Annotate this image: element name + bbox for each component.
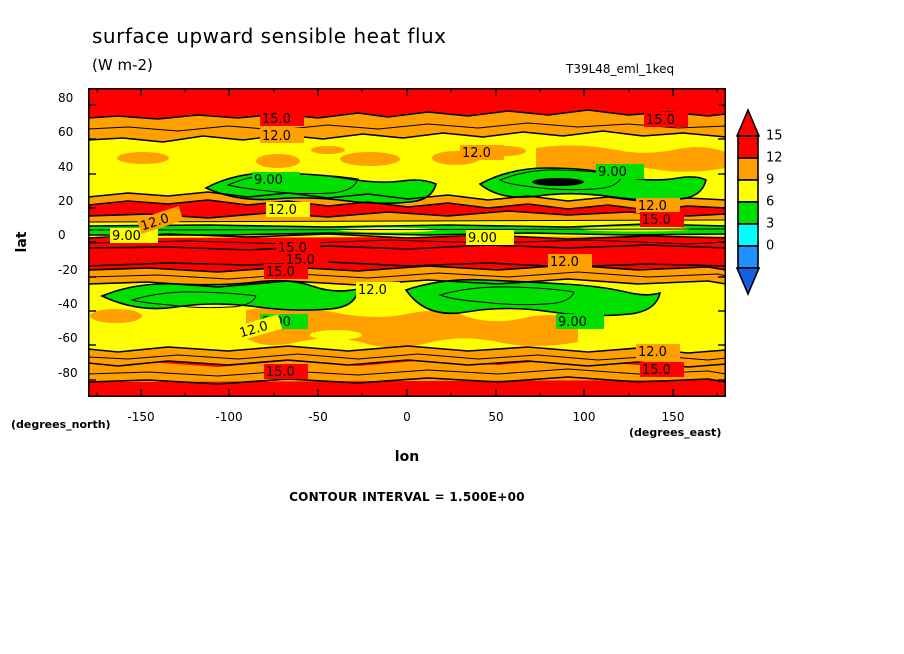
contour-label-12-n4: 12.0: [636, 198, 680, 214]
svg-text:9.00: 9.00: [468, 231, 497, 246]
contour-plot: 15.0 12.0 15.0 12.0 9.00 9.00 12.0 12.0 …: [88, 88, 726, 397]
colorbar: [735, 106, 767, 298]
colorbar-cap-top: [737, 110, 759, 136]
colorbar-tick-label: 15: [766, 129, 783, 144]
svg-text:12.0: 12.0: [462, 146, 491, 161]
contour-label-9-n2: 9.00: [596, 164, 644, 180]
svg-text:9.00: 9.00: [558, 315, 587, 330]
orange-island-s1: [90, 309, 142, 323]
yellow-hole-s1: [310, 330, 362, 340]
colorbar-seg-9to12: [738, 180, 758, 202]
colorbar-seg-gt15: [738, 136, 758, 158]
contour-label-12-n1: 12.0: [260, 128, 304, 144]
contour-label-12-s1: 12.0: [548, 254, 592, 270]
degrees-north-note: (degrees_north): [11, 418, 111, 431]
svg-text:12.0: 12.0: [358, 283, 387, 298]
contour-label-9-n1: 9.00: [252, 172, 300, 188]
colorbar-tick-label: 12: [766, 151, 783, 166]
contour-bands: 15.0 12.0 15.0 12.0 9.00 9.00 12.0 12.0 …: [88, 88, 726, 397]
svg-text:9.00: 9.00: [254, 173, 283, 188]
svg-text:12.0: 12.0: [638, 345, 667, 360]
contour-label-12-s2: 12.0: [356, 282, 400, 298]
x-tick-label: 0: [403, 410, 411, 424]
x-tick-label: -100: [215, 410, 242, 424]
units-subtitle: (W m-2): [92, 56, 153, 74]
orange-island-n2: [256, 154, 300, 168]
svg-text:9.00: 9.00: [112, 229, 141, 244]
contour-core-north: [532, 178, 584, 186]
svg-text:12.0: 12.0: [550, 255, 579, 270]
colorbar-tick-label: 6: [766, 195, 774, 210]
svg-text:12.0: 12.0: [638, 199, 667, 214]
orange-island-n8: [660, 153, 720, 167]
svg-text:12.0: 12.0: [268, 203, 297, 218]
svg-text:15.0: 15.0: [642, 213, 671, 228]
contour-label-9-s2: 9.00: [556, 314, 604, 330]
run-id-label: T39L48_eml_1keq: [566, 62, 674, 76]
svg-text:15.0: 15.0: [266, 265, 295, 280]
colorbar-tick-label: 0: [766, 239, 774, 254]
orange-island-n3: [340, 152, 400, 166]
x-tick-label: -50: [308, 410, 328, 424]
svg-text:15.0: 15.0: [642, 363, 671, 378]
x-tick-label: 150: [662, 410, 685, 424]
orange-island-n7: [311, 146, 345, 154]
contour-label-12-n2: 12.0: [460, 145, 504, 161]
degrees-east-note: (degrees_east): [629, 426, 721, 439]
y-axis-title: lat: [14, 212, 30, 272]
x-tick-label: 50: [488, 410, 503, 424]
svg-text:9.00: 9.00: [598, 165, 627, 180]
contour-plot-svg: 15.0 12.0 15.0 12.0 9.00 9.00 12.0 12.0 …: [88, 88, 726, 397]
contour-label-15-s3: 15.0: [640, 362, 684, 378]
contour-label-9-eq2: 9.00: [466, 230, 514, 246]
contour-label-12-s4: 12.0: [636, 344, 680, 360]
contour-interval-caption: CONTOUR INTERVAL = 1.500E+00: [289, 490, 525, 504]
colorbar-svg: [735, 106, 767, 298]
colorbar-seg-6to9: [738, 202, 758, 224]
colorbar-tick-label: 3: [766, 217, 774, 232]
contour-label-15-n2: 15.0: [644, 112, 688, 128]
colorbar-seg-12to15: [738, 158, 758, 180]
svg-text:15.0: 15.0: [266, 365, 295, 380]
x-axis-title: lon: [395, 449, 419, 465]
x-tick-label: 100: [573, 410, 596, 424]
page-title: surface upward sensible heat flux: [92, 24, 447, 48]
contour-label-15-n1: 15.0: [260, 111, 304, 127]
contour-label-15-s2: 15.0: [264, 364, 308, 380]
colorbar-seg-0to3: [738, 246, 758, 268]
orange-island-n1: [117, 152, 169, 164]
colorbar-cap-bottom: [737, 268, 759, 294]
contour-label-15-n3: 15.0: [640, 212, 684, 228]
x-tick-label: -150: [127, 410, 154, 424]
svg-text:15.0: 15.0: [646, 113, 675, 128]
colorbar-seg-3to6: [738, 224, 758, 246]
svg-text:15.0: 15.0: [262, 112, 291, 127]
contour-label-15-s1: 15.0: [264, 264, 308, 280]
contour-label-12-n3: 12.0: [266, 202, 310, 218]
svg-text:12.0: 12.0: [262, 129, 291, 144]
colorbar-tick-label: 9: [766, 173, 774, 188]
